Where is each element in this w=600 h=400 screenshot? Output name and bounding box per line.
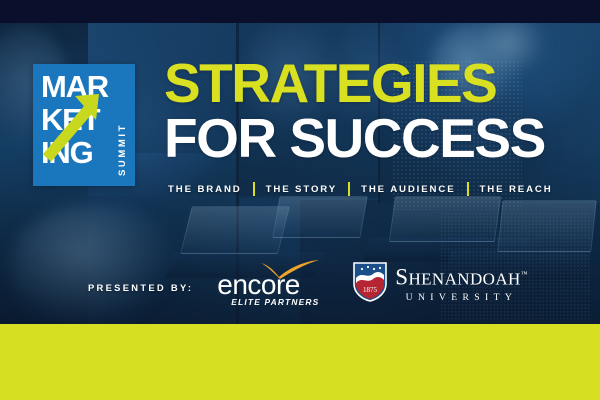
marketing-summit-poster: MAR KET ING SUMMIT STRATEGIES FOR SUCCES… <box>0 0 600 400</box>
sponsor-encore-name: encore <box>217 271 300 299</box>
subtitle-item-story: THE STORY <box>266 184 337 195</box>
shield-crest-icon: 1875 <box>353 262 387 302</box>
headline-line-strategies: STRATEGIES <box>164 56 584 110</box>
shenandoah-initial: S <box>395 265 408 290</box>
logo-line-mar: MAR <box>41 70 117 103</box>
headline-block: STRATEGIES FOR SUCCESS <box>164 56 584 166</box>
shenandoah-rest: HENANDOAH <box>408 270 520 289</box>
sponsor-logo-shenandoah: 1875 SHENANDOAH™ UNIVERSITY <box>353 259 527 305</box>
subtitle-divider-2 <box>348 182 350 196</box>
subtitle-divider-3 <box>467 182 469 196</box>
subtitle-strip: THE BRAND THE STORY THE AUDIENCE THE REA… <box>168 182 553 196</box>
sponsor-shenandoah-subline: UNIVERSITY <box>395 292 527 303</box>
sponsor-logo-encore: encore ELITE PARTNERS <box>217 259 335 305</box>
subtitle-item-brand: THE BRAND <box>168 184 242 195</box>
trademark-symbol: ™ <box>521 270 528 278</box>
subtitle-divider-1 <box>253 182 255 196</box>
presented-by-row: PRESENTED BY: encore ELITE PARTNERS 1875 <box>88 258 528 306</box>
sponsor-encore-tagline: ELITE PARTNERS <box>231 297 319 307</box>
top-navy-band <box>0 0 600 23</box>
subtitle-item-reach: THE REACH <box>480 184 553 195</box>
logo-line-ket: KET <box>41 103 117 136</box>
subtitle-item-audience: THE AUDIENCE <box>361 184 455 195</box>
logo-line-ing: ING <box>41 136 117 169</box>
headline-line-for-success: FOR SUCCESS <box>164 110 584 166</box>
laptop-shape-2 <box>272 196 367 238</box>
marketing-summit-logo: MAR KET ING SUMMIT <box>33 64 135 186</box>
svg-text:1875: 1875 <box>363 286 378 294</box>
bottom-lime-bar <box>0 324 600 400</box>
presented-by-label: PRESENTED BY: <box>88 282 193 293</box>
sponsor-shenandoah-name: SHENANDOAH™ <box>395 263 527 291</box>
logo-summit-vertical-text: SUMMIT <box>117 68 133 180</box>
shenandoah-text-block: SHENANDOAH™ UNIVERSITY <box>395 263 527 303</box>
logo-wordmark: MAR KET ING <box>41 70 117 180</box>
